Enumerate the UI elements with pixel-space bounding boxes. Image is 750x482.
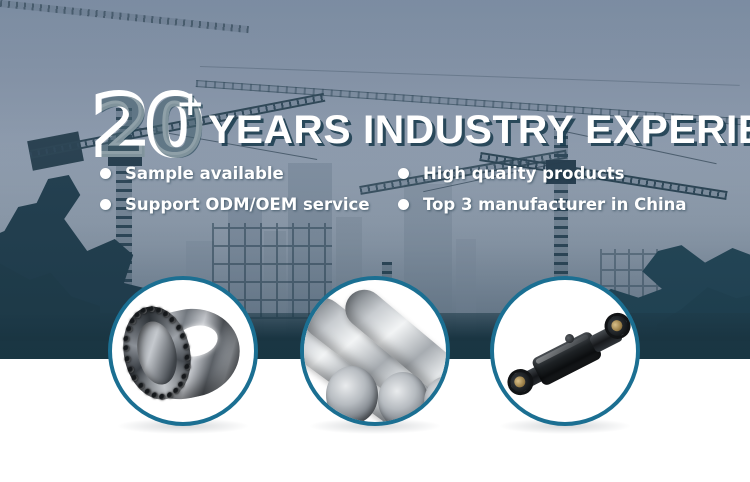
bullet-dot-icon bbox=[398, 199, 409, 210]
list-item-label: Support ODM/OEM service bbox=[125, 195, 370, 214]
product-circle-steel-bars[interactable] bbox=[300, 276, 450, 426]
headline-title: YEARS INDUSTRY EXPERIENCE bbox=[208, 108, 750, 152]
steel-round-bars-image bbox=[304, 280, 446, 422]
product-circle-flange[interactable] bbox=[108, 276, 258, 426]
list-item-label: High quality products bbox=[423, 164, 625, 183]
headline-block: 20 + YEARS INDUSTRY EXPERIENCE bbox=[0, 40, 750, 122]
product-circle-hydraulic-cylinder[interactable] bbox=[490, 276, 640, 426]
steel-bar-end-face bbox=[326, 366, 378, 424]
product-gallery bbox=[0, 272, 750, 440]
plus-icon: + bbox=[176, 84, 205, 124]
steel-bar-end-face bbox=[378, 372, 428, 426]
list-item: Sample available bbox=[100, 158, 370, 189]
cylinder-assembly bbox=[490, 276, 640, 426]
list-item: Support ODM/OEM service bbox=[100, 189, 370, 220]
feature-column-right: High quality products Top 3 manufacturer… bbox=[398, 158, 686, 220]
list-item-label: Top 3 manufacturer in China bbox=[423, 195, 686, 214]
feature-list: Sample available Support ODM/OEM service… bbox=[0, 158, 750, 220]
feature-column-left: Sample available Support ODM/OEM service bbox=[100, 158, 370, 220]
list-item: High quality products bbox=[398, 158, 686, 189]
bullet-dot-icon bbox=[100, 199, 111, 210]
list-item: Top 3 manufacturer in China bbox=[398, 189, 686, 220]
flange-pipe-image bbox=[112, 280, 254, 422]
promo-banner: 20 + YEARS INDUSTRY EXPERIENCE Sample av… bbox=[0, 0, 750, 482]
bullet-dot-icon bbox=[398, 168, 409, 179]
list-item-label: Sample available bbox=[125, 164, 284, 183]
hydraulic-cylinder-image bbox=[494, 280, 636, 422]
bullet-dot-icon bbox=[100, 168, 111, 179]
